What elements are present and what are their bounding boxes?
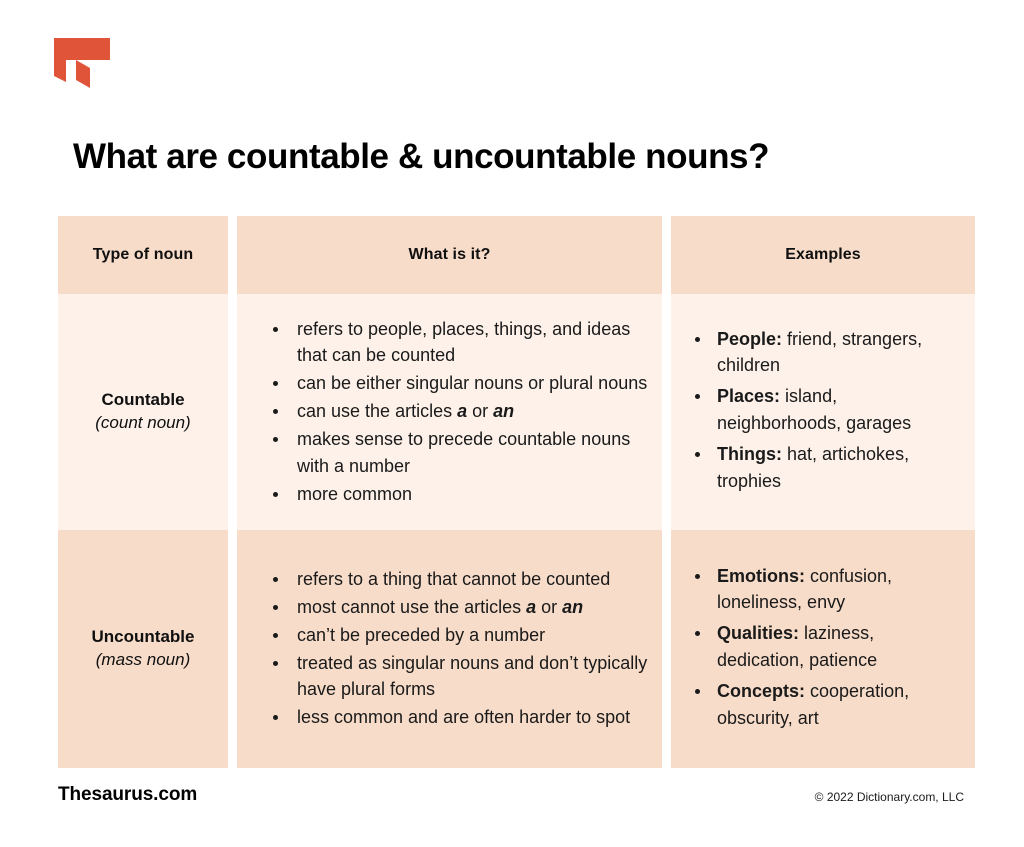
- footer-copyright: © 2022 Dictionary.com, LLC: [815, 790, 964, 804]
- list-item: Emotions: confusion, loneliness, envy: [693, 563, 965, 617]
- list-item: more common: [271, 481, 652, 508]
- footer-brand-name: Thesaurus.com: [58, 784, 197, 806]
- column-header-examples: Examples: [671, 216, 975, 294]
- definition-cell-uncountable: refers to a thing that cannot be counted…: [237, 530, 662, 768]
- examples-list: People: friend, strangers, childrenPlace…: [671, 326, 975, 499]
- column-header-what-is-it: What is it?: [237, 216, 662, 294]
- examples-cell-uncountable: Emotions: confusion, loneliness, envyQua…: [671, 530, 975, 768]
- list-item: Qualities: laziness, dedication, patienc…: [693, 620, 965, 674]
- list-item: Places: island, neighborhoods, garages: [693, 383, 965, 437]
- column-header-type-of-noun: Type of noun: [58, 216, 228, 294]
- noun-type-subtitle: (mass noun): [96, 649, 190, 672]
- list-item: can use the articles a or an: [271, 398, 652, 425]
- noun-types-table: Type of noun What is it? Examples Counta…: [58, 216, 966, 768]
- thesaurus-t-logo-icon: [54, 38, 110, 88]
- noun-type-name: Countable: [101, 389, 184, 412]
- list-item: refers to people, places, things, and id…: [271, 316, 652, 370]
- table-header-row: Type of noun What is it? Examples: [58, 216, 966, 294]
- list-item: Concepts: cooperation, obscurity, art: [693, 678, 965, 732]
- page-title: What are countable & uncountable nouns?: [73, 136, 953, 178]
- noun-type-label-uncountable: Uncountable (mass noun): [58, 530, 228, 768]
- list-item: can’t be preceded by a number: [271, 622, 652, 649]
- list-item: Things: hat, artichokes, trophies: [693, 441, 965, 495]
- list-item: less common and are often harder to spot: [271, 704, 652, 731]
- definition-list: refers to a thing that cannot be counted…: [237, 566, 662, 732]
- thesaurus-logo: [54, 38, 110, 88]
- list-item: People: friend, strangers, children: [693, 326, 965, 380]
- definition-cell-countable: refers to people, places, things, and id…: [237, 294, 662, 530]
- noun-type-label-countable: Countable (count noun): [58, 294, 228, 530]
- list-item: refers to a thing that cannot be counted: [271, 566, 652, 593]
- examples-cell-countable: People: friend, strangers, childrenPlace…: [671, 294, 975, 530]
- noun-type-name: Uncountable: [92, 626, 195, 649]
- list-item: treated as singular nouns and don’t typi…: [271, 650, 652, 704]
- noun-type-subtitle: (count noun): [95, 412, 190, 435]
- table-row-uncountable: Uncountable (mass noun) refers to a thin…: [58, 530, 966, 768]
- definition-list: refers to people, places, things, and id…: [237, 316, 662, 509]
- table-row-countable: Countable (count noun) refers to people,…: [58, 294, 966, 530]
- list-item: most cannot use the articles a or an: [271, 594, 652, 621]
- list-item: can be either singular nouns or plural n…: [271, 370, 652, 397]
- examples-list: Emotions: confusion, loneliness, envyQua…: [671, 563, 975, 736]
- list-item: makes sense to precede countable nouns w…: [271, 426, 652, 480]
